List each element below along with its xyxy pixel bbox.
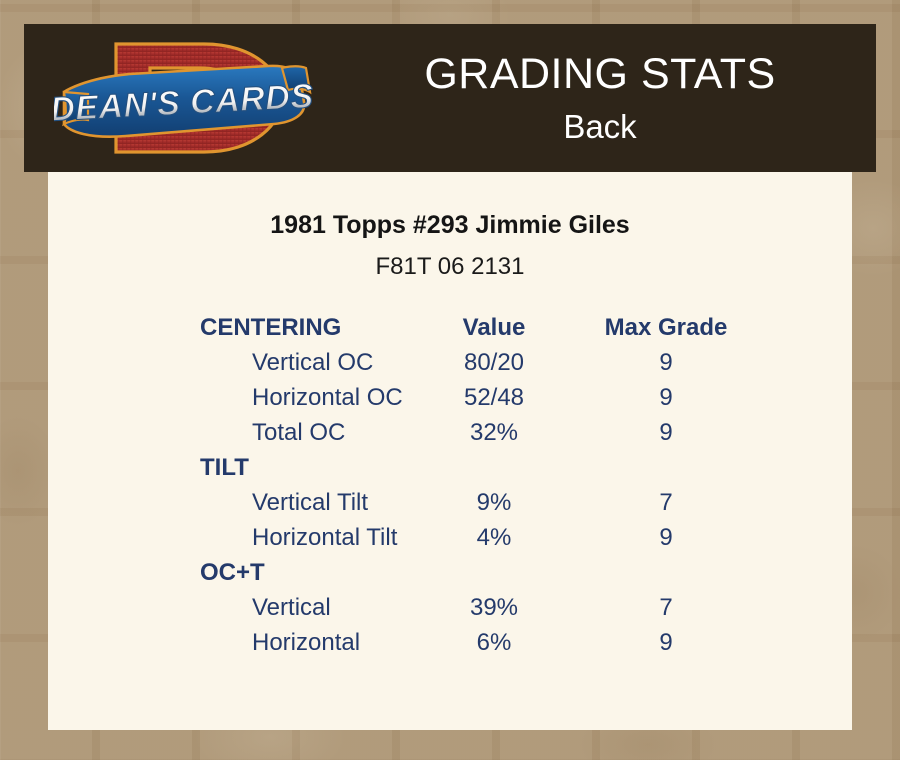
stats-row-max-grade: 9 [580,419,752,447]
stats-row-max-grade: 7 [580,489,752,517]
stats-section-label: OC+T [48,559,408,587]
page-subtitle: Back [563,110,636,143]
stats-row-value: 52/48 [408,384,580,412]
stats-section-label: CENTERING [48,314,408,342]
stats-row: Total OC32%9 [48,419,852,454]
stats-section-header: TILT [48,454,852,489]
stats-row: Vertical OC80/209 [48,349,852,384]
stats-section-label: TILT [48,454,408,482]
stats-row-label: Horizontal Tilt [48,524,408,552]
stats-row-label: Vertical OC [48,349,408,377]
page-root: DEAN'S CARDS GRADING STATS Back 1981 Top… [0,0,900,760]
header-title-block: GRADING STATS Back [324,24,876,172]
stats-row-label: Vertical Tilt [48,489,408,517]
stats-row-max-grade: 9 [580,384,752,412]
stats-row-value: 9% [408,489,580,517]
stats-row: Vertical39%7 [48,594,852,629]
page-title: GRADING STATS [424,53,775,96]
stats-row-max-grade: 9 [580,524,752,552]
stats-row-value: 6% [408,629,580,657]
column-header-value: Value [408,314,580,342]
stats-row-value: 80/20 [408,349,580,377]
card-title: 1981 Topps #293 Jimmie Giles [48,212,852,240]
stats-section-header: CENTERINGValueMax Grade [48,314,852,349]
card-code: F81T 06 2131 [48,254,852,280]
grading-stats-table: CENTERINGValueMax GradeVertical OC80/209… [48,314,852,664]
stats-row-label: Horizontal OC [48,384,408,412]
stats-row-max-grade: 9 [580,349,752,377]
stats-row-label: Vertical [48,594,408,622]
stats-row-max-grade: 7 [580,594,752,622]
stats-row-max-grade: 9 [580,629,752,657]
content-panel: 1981 Topps #293 Jimmie Giles F81T 06 213… [48,172,852,730]
header-bar: DEAN'S CARDS GRADING STATS Back [24,24,876,172]
column-header-max-grade: Max Grade [580,314,752,342]
stats-row-value: 32% [408,419,580,447]
stats-row-value: 39% [408,594,580,622]
stats-row: Horizontal Tilt4%9 [48,524,852,559]
stats-row: Horizontal OC52/489 [48,384,852,419]
stats-row-label: Horizontal [48,629,408,657]
stats-row: Vertical Tilt9%7 [48,489,852,524]
logo-banner: DEAN'S CARDS [54,66,314,137]
stats-row-label: Total OC [48,419,408,447]
stats-section-header: OC+T [48,559,852,594]
stats-row: Horizontal6%9 [48,629,852,664]
deans-cards-logo[interactable]: DEAN'S CARDS [54,28,318,168]
stats-row-value: 4% [408,524,580,552]
